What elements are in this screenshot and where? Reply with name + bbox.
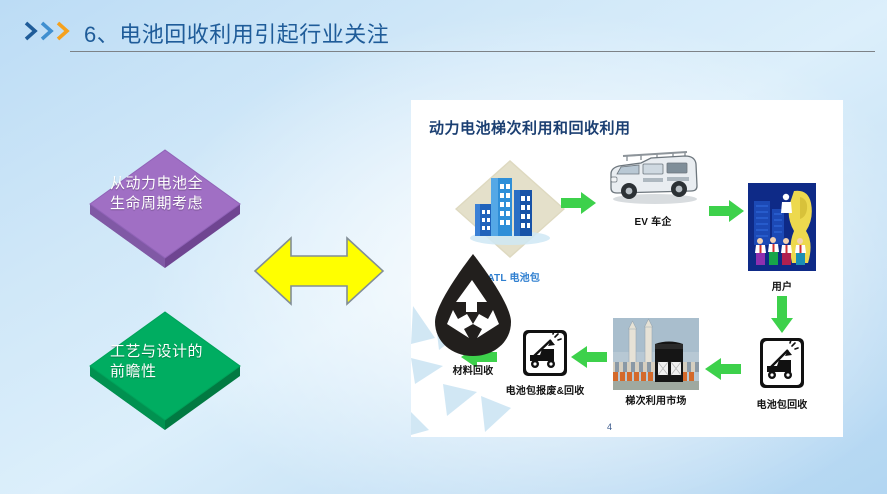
tow-truck-icon <box>748 338 816 394</box>
node-pack-recycle[interactable]: 电池包回收 <box>748 338 816 411</box>
node-ev[interactable]: EV 车企 <box>601 144 705 228</box>
users-icon <box>748 183 816 271</box>
page-title: 6、电池回收利用引起行业关注 <box>84 17 389 49</box>
van-icon <box>601 144 705 206</box>
node-second-life-market[interactable]: 梯次利用市场 <box>613 318 699 407</box>
purple-diamond[interactable]: 从动力电池全 生命周期考虑 <box>86 142 244 270</box>
chevron-group <box>24 21 71 41</box>
buildings-icon <box>451 156 569 262</box>
node-ev-label: EV 车企 <box>601 213 705 228</box>
diagram-panel: 动力电池梯次利用和回收利用 <box>411 100 843 437</box>
chevron-right-icon <box>56 21 71 41</box>
flow-arrow-down <box>770 296 794 334</box>
slide-canvas: 6、电池回收利用引起行业关注 从动力电池全 生命周期考虑 工艺与设计的 前瞻性 … <box>0 0 887 494</box>
flow-arrow-right <box>709 200 745 222</box>
recycle-droplet-icon <box>425 250 521 360</box>
slide-header: 6、电池回收利用引起行业关注 <box>0 0 887 60</box>
node-user-label: 用户 <box>748 278 816 293</box>
chevron-right-icon <box>40 21 55 41</box>
chevron-right-icon <box>24 21 39 41</box>
header-divider <box>70 51 875 52</box>
double-headed-arrow-icon[interactable] <box>252 232 386 310</box>
diagram-title: 动力电池梯次利用和回收利用 <box>429 117 631 138</box>
purple-diamond-label: 从动力电池全 生命周期考虑 <box>110 174 203 214</box>
node-user[interactable]: 用户 <box>748 183 816 293</box>
node-material-label: 材料回收 <box>425 362 521 377</box>
node-material-recycle[interactable]: 材料回收 <box>425 250 521 377</box>
mosque-icon <box>613 318 699 390</box>
green-diamond-label: 工艺与设计的 前瞻性 <box>110 342 203 382</box>
node-market-label: 梯次利用市场 <box>613 392 699 407</box>
tow-truck-icon <box>517 330 573 380</box>
node-scrap-label: 电池包报废&回收 <box>501 382 589 397</box>
flow-arrow-right <box>561 192 597 214</box>
page-number: 4 <box>607 422 612 432</box>
flow-arrow-left <box>703 358 741 380</box>
node-pack-recycle-label: 电池包回收 <box>748 396 816 411</box>
green-diamond[interactable]: 工艺与设计的 前瞻性 <box>86 304 244 432</box>
